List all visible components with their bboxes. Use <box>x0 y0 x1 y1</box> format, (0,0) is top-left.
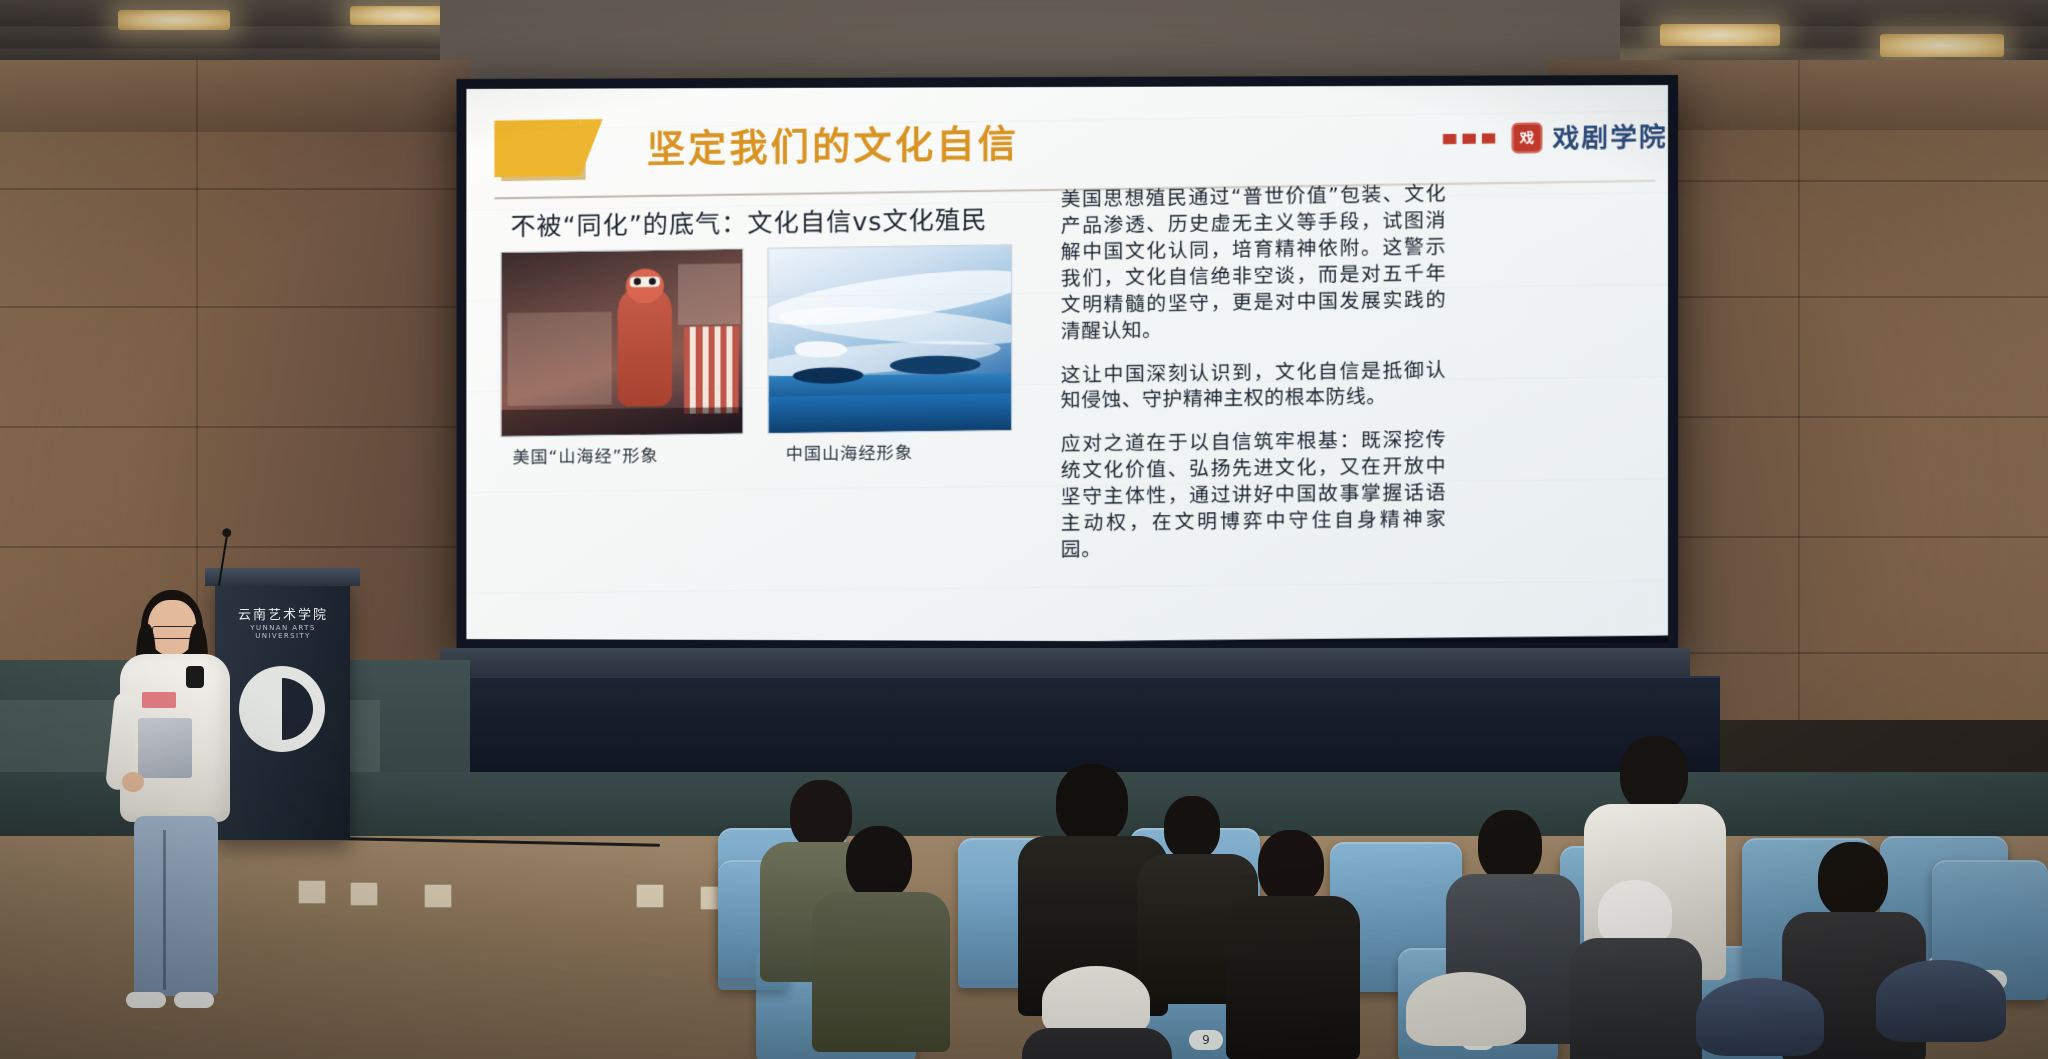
floor-outlet <box>350 882 378 906</box>
body-paragraph: 这让中国深刻认识到，文化自信是抵御认知侵蚀、守护精神主权的根本防线。 <box>1061 357 1446 415</box>
brand-dots-icon <box>1443 133 1495 144</box>
ceiling-light <box>1660 24 1780 46</box>
slide-image-american-shanhaijing <box>500 248 743 437</box>
seal-icon: 戏 <box>1512 122 1543 153</box>
institution-brand: 戏 戏剧学院 <box>1443 116 1668 157</box>
presenter-legs <box>134 816 218 996</box>
handheld-microphone-icon <box>186 666 204 688</box>
ceiling-light <box>1880 34 2004 57</box>
body-paragraph: 应对之道在于以自信筑牢根基：既深挖传统文化价值、弘扬先进文化，又在开放中坚守主体… <box>1061 427 1446 563</box>
slide-image-chinese-shanhaijing <box>768 244 1013 434</box>
lectern-top <box>205 568 360 586</box>
brand-name: 戏剧学院 <box>1553 116 1668 156</box>
image-caption-right: 中国山海经形象 <box>786 438 913 465</box>
floor-outlet <box>636 884 664 908</box>
led-display-screen: 坚定我们的文化自信 戏 戏剧学院 不被“同化”的底气：文化自信vs文化殖民 <box>457 75 1679 653</box>
image-caption-left: 美国“山海经”形象 <box>512 441 658 468</box>
presenter <box>112 600 242 1020</box>
seat-number: 9 <box>1189 1030 1223 1050</box>
shirt-graphic <box>138 718 192 778</box>
floor-outlet <box>298 880 326 904</box>
ceiling-light <box>118 10 230 30</box>
lecture-hall-photo: 坚定我们的文化自信 戏 戏剧学院 不被“同化”的底气：文化自信vs文化殖民 <box>0 0 2048 1059</box>
screen-panel: 坚定我们的文化自信 戏 戏剧学院 不被“同化”的底气：文化自信vs文化殖民 <box>466 85 1668 643</box>
body-paragraph: 美国思想殖民通过“普世价值”包装、文化产品渗透、历史虚无主义等手段，试图消解中国… <box>1061 181 1446 345</box>
glasses-icon <box>152 626 194 639</box>
floor-outlet <box>424 884 452 908</box>
presenter-shoe <box>174 992 214 1008</box>
shirt-graphic <box>142 692 176 708</box>
presenter-hand <box>122 772 144 792</box>
university-logo-icon <box>239 666 325 752</box>
presentation-slide: 坚定我们的文化自信 戏 戏剧学院 不被“同化”的底气：文化自信vs文化殖民 <box>466 85 1668 643</box>
presenter-shoe <box>126 992 166 1008</box>
presenter-legs <box>163 830 166 990</box>
